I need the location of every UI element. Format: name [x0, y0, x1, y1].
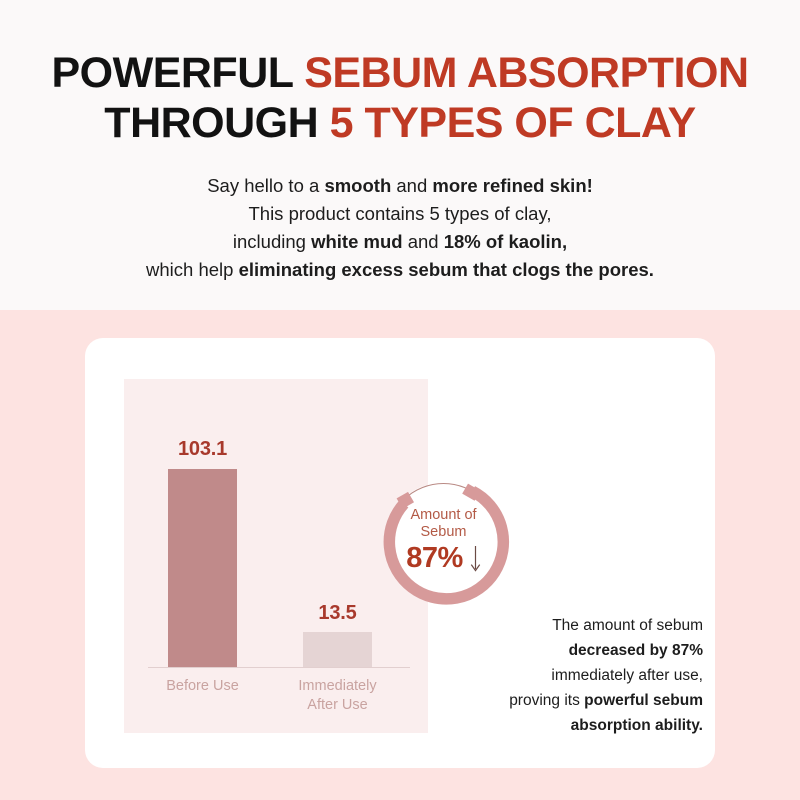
subcopy-line-1: Say hello to a smooth and more refined s… [0, 172, 800, 200]
subcopy-3-b: white mud [311, 231, 402, 252]
infographic-page: POWERFUL SEBUM ABSORPTION THROUGH 5 TYPE… [0, 0, 800, 800]
caption-line-2-bold: decreased by 87% [569, 642, 703, 659]
caption-line-2: decreased by 87% [485, 638, 703, 663]
headline-line-1-accent: SEBUM ABSORPTION [304, 49, 748, 97]
subcopy-1-a: Say hello to a [207, 175, 324, 196]
caption-line-5: absorption ability. [485, 713, 703, 738]
headline-line-2-accent: 5 TYPES OF CLAY [330, 99, 696, 147]
headline-line-2-black: THROUGH [104, 99, 329, 147]
headline-line-2: THROUGH 5 TYPES OF CLAY [0, 98, 800, 148]
headline-line-1-black: POWERFUL [51, 49, 304, 97]
subcopy-3-c: and [403, 231, 444, 252]
caption-line-4-a: proving its [509, 692, 584, 709]
badge-label-line-1: Amount of [410, 507, 476, 524]
subcopy-4-b: eliminating excess sebum that clogs the … [239, 259, 654, 280]
badge-percent-row: 87% [406, 542, 481, 575]
caption-line-3: immediately after use, [485, 663, 703, 688]
subcopy-1-b: smooth [324, 175, 391, 196]
headline-line-1: POWERFUL SEBUM ABSORPTION [0, 48, 800, 98]
subcopy-3-d: 18% of kaolin, [444, 231, 567, 252]
down-arrow-icon [470, 546, 481, 572]
stats-card: 103.1 Before Use 13.5 Immediately After … [85, 338, 715, 768]
subcopy-4-a: which help [146, 259, 239, 280]
caption-line-5-bold: absorption ability. [571, 717, 703, 734]
badge-percent-value: 87% [406, 542, 463, 575]
caption-line-4-b: powerful sebum [584, 692, 703, 709]
subcopy-line-2: This product contains 5 types of clay, [0, 200, 800, 228]
caption-line-4: proving its powerful sebum [485, 688, 703, 713]
subcopy-line-4: which help eliminating excess sebum that… [0, 256, 800, 284]
hero-subcopy: Say hello to a smooth and more refined s… [0, 172, 800, 284]
subcopy-3-a: including [233, 231, 311, 252]
badge-text-group: Amount of Sebum 87% [376, 473, 511, 608]
badge-label-line-2: Sebum [410, 524, 476, 541]
hero-section: POWERFUL SEBUM ABSORPTION THROUGH 5 TYPE… [0, 0, 800, 310]
subcopy-1-d: more refined skin! [432, 175, 592, 196]
subcopy-1-c: and [391, 175, 432, 196]
caption-line-1: The amount of sebum [485, 613, 703, 638]
sebum-reduction-badge: Amount of Sebum 87% [376, 473, 511, 608]
subcopy-line-3: including white mud and 18% of kaolin, [0, 228, 800, 256]
caption-text: The amount of sebum decreased by 87% imm… [485, 613, 703, 738]
page-title: POWERFUL SEBUM ABSORPTION THROUGH 5 TYPE… [0, 48, 800, 148]
badge-label: Amount of Sebum [410, 507, 476, 541]
